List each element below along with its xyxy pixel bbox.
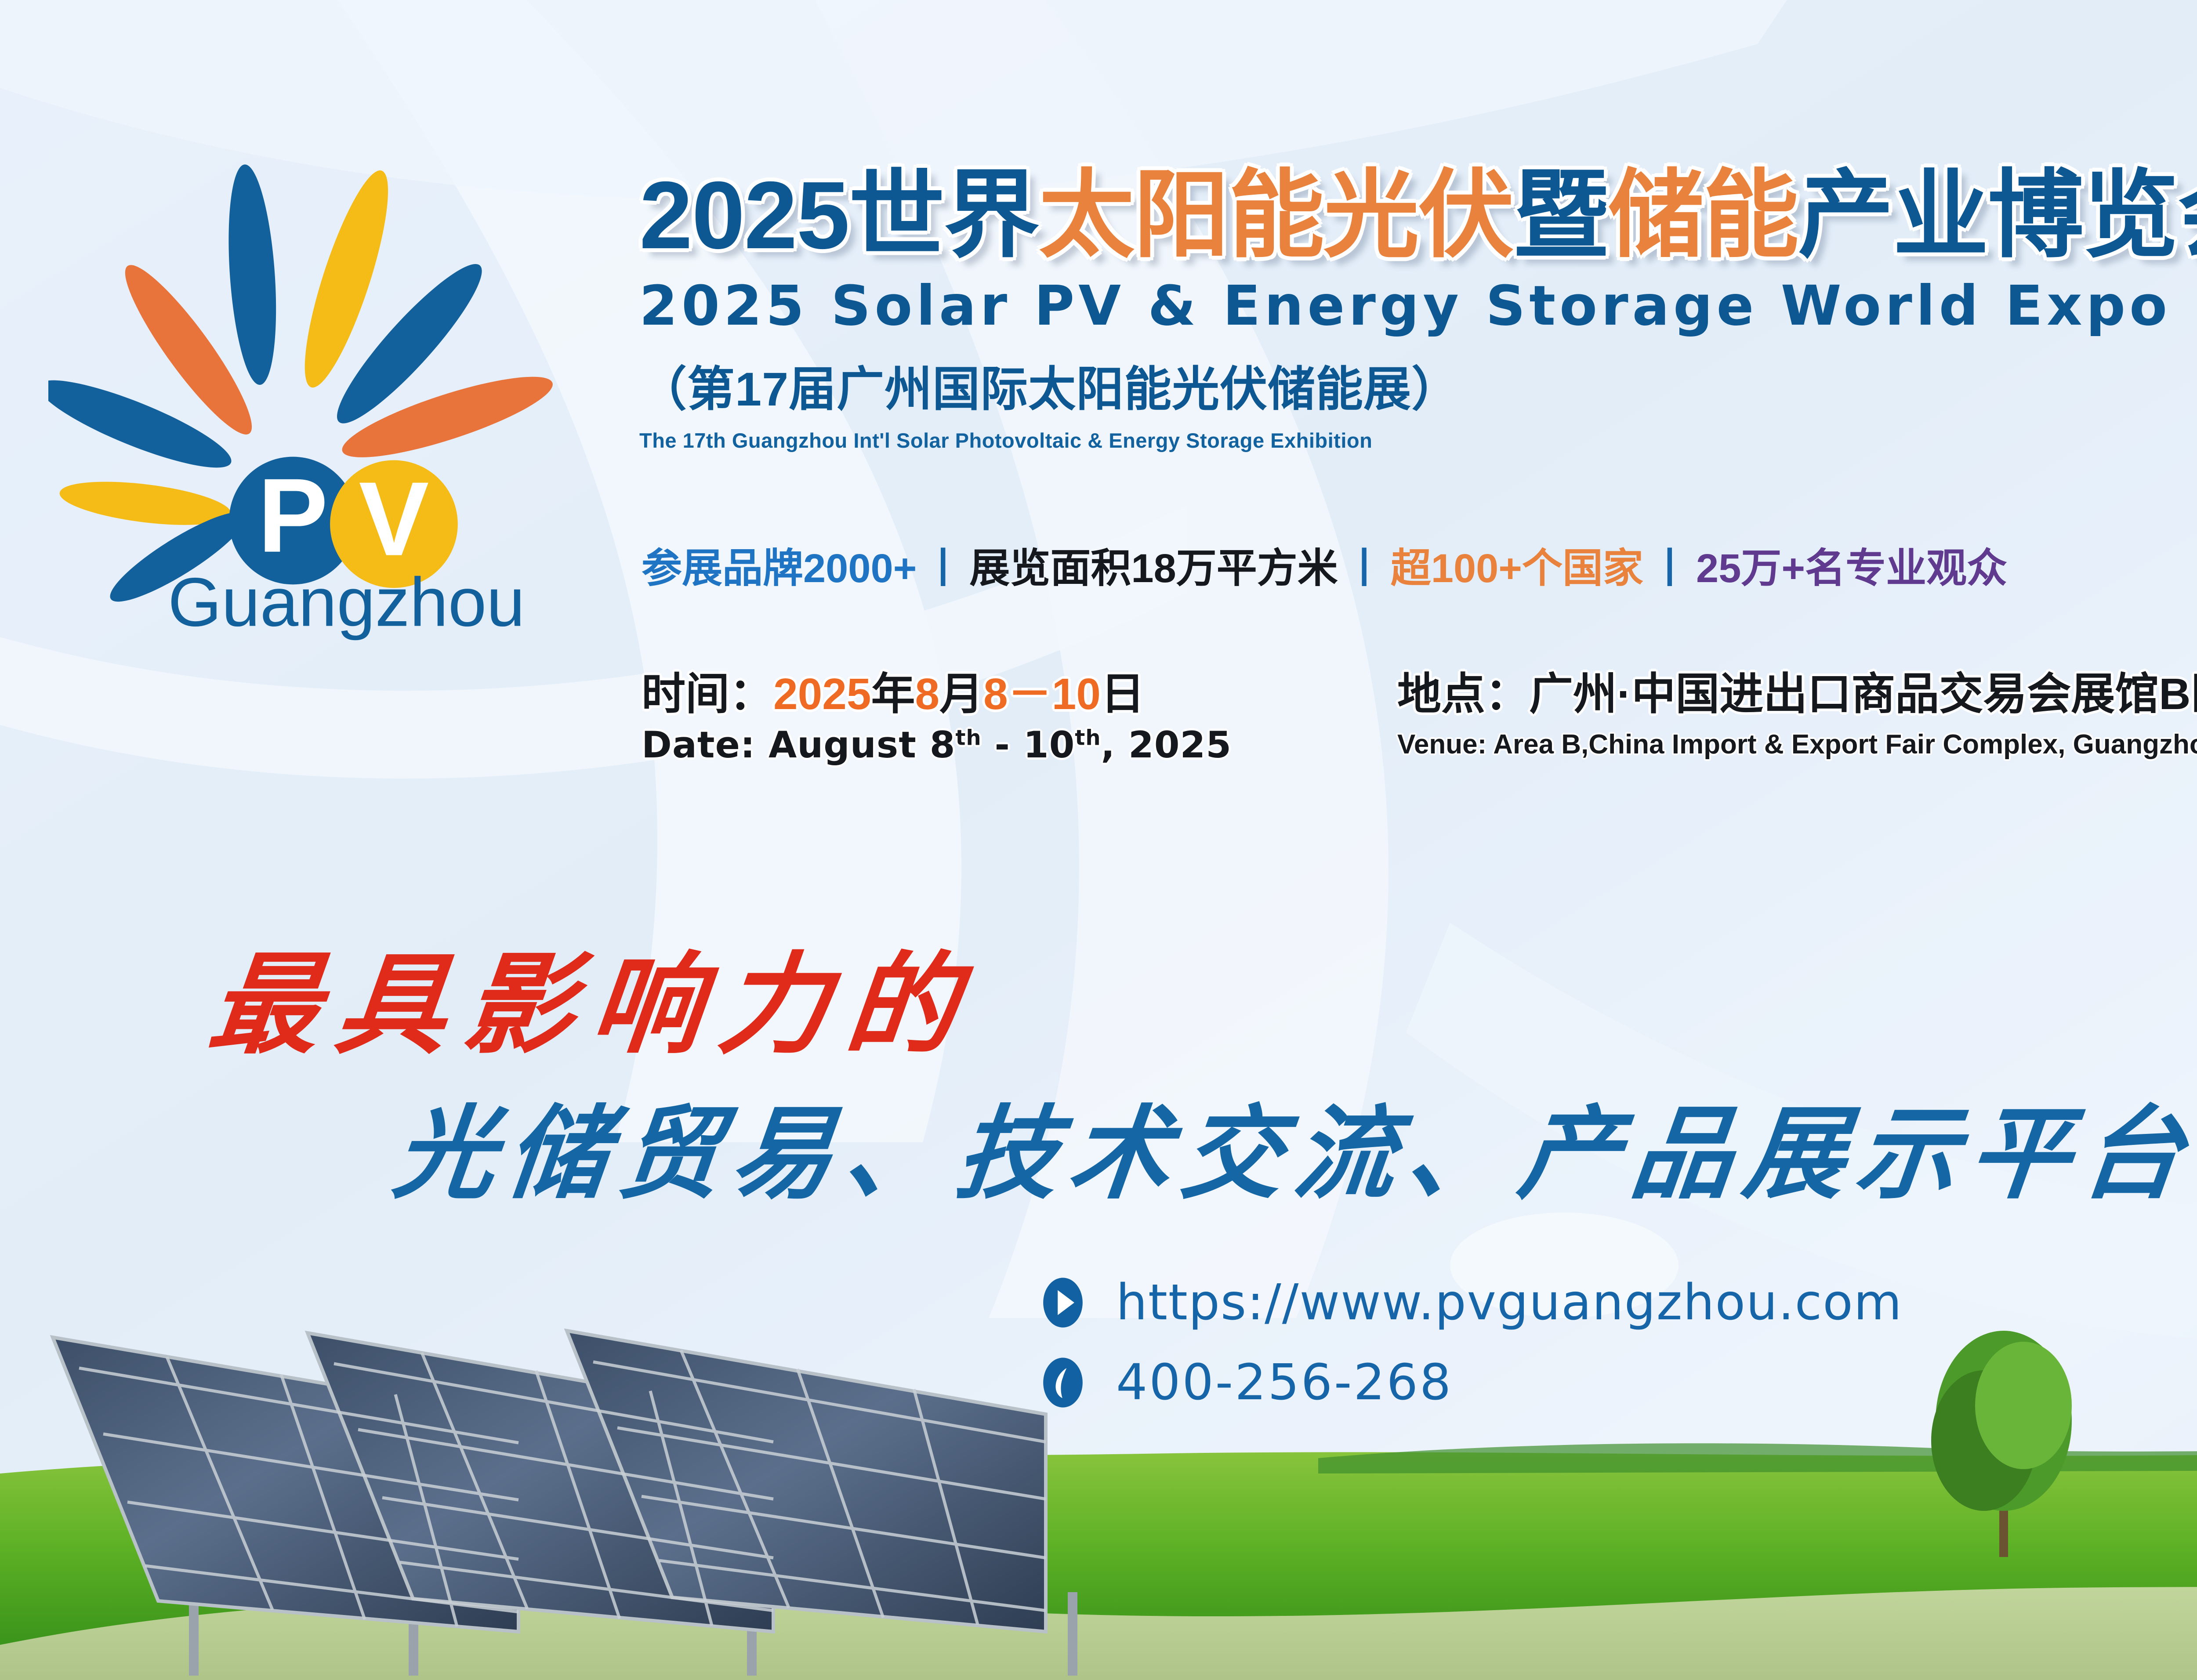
date-en-sup2: th xyxy=(1075,725,1101,750)
date-month-unit: 月 xyxy=(939,670,983,719)
stat-countries: 超100+个国家 xyxy=(1391,546,1643,591)
date-en-sup1: th xyxy=(956,725,982,750)
stats-bar: 参展品牌2000+丨展览面积18万平方米丨超100+个国家丨25万+名专业观众 xyxy=(642,548,2007,589)
bottom-scene xyxy=(0,1285,2197,1680)
stat-separator-3: 丨 xyxy=(1643,546,1696,591)
date-year-unit: 年 xyxy=(871,670,915,719)
date-en-day2: 10 xyxy=(1023,724,1075,766)
pv-guangzhou-logo: P V Guangzhou xyxy=(48,158,567,641)
svg-text:Guangzhou: Guangzhou xyxy=(168,564,525,641)
stat-separator-1: 丨 xyxy=(917,546,969,591)
stat-area: 展览面积18万平方米 xyxy=(969,546,1338,591)
date-chinese: 时间：2025年8月8－10日 xyxy=(642,671,1232,717)
venue-value: 广州·中国进出口商品交易会展馆B区 xyxy=(1529,670,2197,719)
date-days: 8－10 xyxy=(983,670,1101,719)
venue-chinese: 地点：广州·中国进出口商品交易会展馆B区 xyxy=(1397,671,2197,717)
date-en-day1: 8 xyxy=(930,724,956,766)
slogan-line-1: 最具影响力的 xyxy=(203,916,984,1075)
main-title: 2025世界太阳能光伏暨储能产业博览会 xyxy=(639,167,2197,264)
title-part-3: 暨 xyxy=(1513,162,1608,269)
date-english: Date: August 8th - 10th, 2025 xyxy=(642,724,1232,766)
date-label: 时间： xyxy=(642,670,773,719)
svg-text:V: V xyxy=(359,460,429,578)
title-part-1: 2025世界 xyxy=(639,162,1039,269)
title-part-2: 太阳能光伏 xyxy=(1039,162,1513,269)
date-month: 8 xyxy=(915,670,939,719)
date-block: 时间：2025年8月8－10日 Date: August 8th - 10th,… xyxy=(642,671,1232,766)
date-en-year: , 2025 xyxy=(1101,724,1232,766)
date-year: 2025 xyxy=(773,670,871,719)
subtitle-chinese: （第17届广州国际太阳能光伏储能展） xyxy=(639,351,2197,420)
stat-separator-2: 丨 xyxy=(1338,546,1391,591)
slogan-line-2: 光储贸易、技术交流、产品展示平台！ xyxy=(388,1072,2197,1218)
title-part-5: 产业博览会 xyxy=(1798,162,2197,269)
title-english: 2025 Solar PV & Energy Storage World Exp… xyxy=(639,274,2197,338)
date-day-unit: 日 xyxy=(1101,670,1145,719)
stat-visitors: 25万+名专业观众 xyxy=(1696,546,2007,591)
date-en-dash: - xyxy=(982,724,1023,766)
stat-brands: 参展品牌2000+ xyxy=(642,546,917,591)
expo-banner-poster: P V Guangzhou 2025世界太阳能光伏暨储能产业博览会 2025 S… xyxy=(0,0,2197,1680)
svg-text:P: P xyxy=(258,456,328,574)
date-en-prefix: Date: August xyxy=(642,724,930,766)
subtitle-english: The 17th Guangzhou Int'l Solar Photovolt… xyxy=(639,428,2197,453)
venue-block: 地点：广州·中国进出口商品交易会展馆B区 Venue: Area B,China… xyxy=(1397,671,2197,760)
title-part-4: 储能 xyxy=(1608,162,1798,269)
venue-label: 地点： xyxy=(1397,670,1529,719)
venue-english: Venue: Area B,China Import & Export Fair… xyxy=(1397,729,2197,760)
title-block: 2025世界太阳能光伏暨储能产业博览会 2025 Solar PV & Ener… xyxy=(639,167,2197,453)
